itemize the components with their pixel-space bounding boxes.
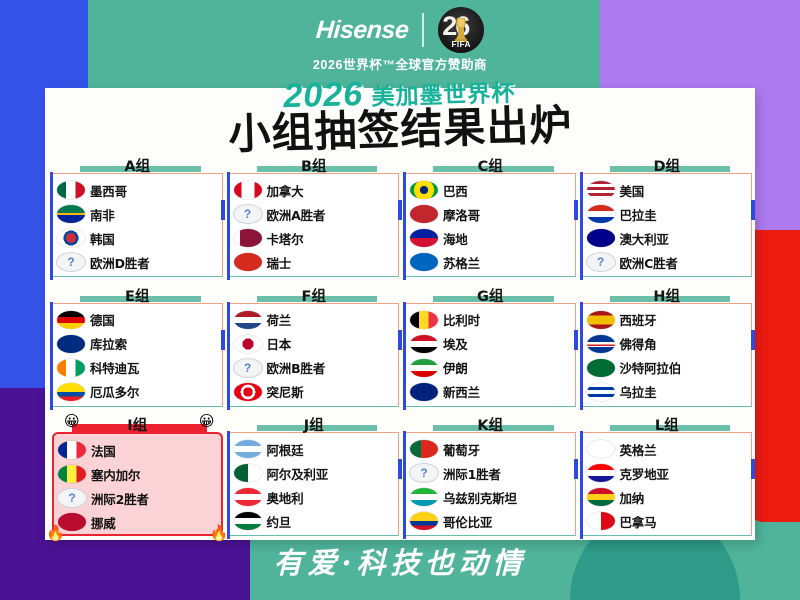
team-row: 苏格兰 [410, 250, 573, 274]
brazil-flag [410, 181, 438, 199]
group-label: J组 [304, 418, 324, 434]
team-name: 伊朗 [443, 358, 468, 377]
group-header: B组 [229, 155, 400, 173]
team-row: 巴西 [410, 178, 573, 202]
team-name: 阿根廷 [267, 440, 304, 459]
uruguay-flag [587, 383, 615, 401]
mexico-flag [57, 181, 85, 199]
team-name: 南非 [90, 205, 115, 224]
team-name: 哥伦比亚 [443, 512, 492, 531]
group-header: A组 [52, 155, 223, 173]
team-row: 乌兹别克斯坦 [410, 485, 573, 509]
group-card-G组: G组比利时埃及伊朗新西兰 [405, 285, 576, 411]
unknown-flag: ? [58, 489, 86, 507]
group-team-list: 法国塞内加尔?洲际2胜者挪威🔥🔥 [52, 432, 223, 536]
ivory-coast-flag [57, 359, 85, 377]
group-card-D组: D组美国巴拉圭澳大利亚?欧洲C胜者 [582, 155, 753, 281]
iran-flag [410, 359, 438, 377]
smiley-face-icon-left: 😀 [64, 412, 80, 430]
team-name: 西班牙 [620, 310, 657, 329]
unknown-flag: ? [410, 464, 438, 482]
team-name: 卡塔尔 [267, 229, 304, 248]
team-name: 科特迪瓦 [90, 358, 139, 377]
team-name: 日本 [267, 334, 292, 353]
senegal-flag [58, 465, 86, 483]
team-name: 苏格兰 [443, 253, 480, 272]
haiti-flag [410, 229, 438, 247]
team-name: 乌拉圭 [620, 382, 657, 401]
group-header: D组 [582, 155, 753, 173]
belgium-flag [410, 311, 438, 329]
brand-row: Hisense 26 FIFA [0, 10, 800, 50]
team-row: 荷兰 [234, 308, 397, 332]
team-row: 比利时 [410, 308, 573, 332]
team-row: 库拉索 [57, 332, 220, 356]
team-row: 英格兰 [587, 437, 750, 461]
group-header: I组😀😀 [52, 414, 223, 432]
group-team-list: 加拿大?欧洲A胜者卡塔尔瑞士 [229, 173, 400, 277]
team-row: 巴拉圭 [587, 202, 750, 226]
team-name: 韩国 [90, 229, 115, 248]
qatar-flag [234, 229, 262, 247]
team-row: 埃及 [410, 332, 573, 356]
team-name: 欧洲C胜者 [620, 253, 678, 272]
tunisia-flag [234, 383, 262, 401]
team-row: 乌拉圭 [587, 380, 750, 404]
group-card-L组: L组英格兰克罗地亚加纳巴拿马 [582, 414, 753, 540]
france-flag [58, 441, 86, 459]
team-name: 法国 [91, 441, 116, 460]
team-row: 瑞士 [234, 250, 397, 274]
team-row: 奥地利 [234, 485, 397, 509]
south-africa-flag [57, 205, 85, 223]
team-name: 欧洲D胜者 [90, 253, 149, 272]
group-team-list: 荷兰日本?欧洲B胜者突尼斯 [229, 303, 400, 407]
team-row: 巴拿马 [587, 509, 750, 533]
group-card-J组: J组阿根廷阿尔及利亚奥地利约旦 [229, 414, 400, 540]
paraguay-flag [587, 205, 615, 223]
group-label: A组 [124, 159, 150, 175]
group-card-K组: K组葡萄牙?洲际1胜者乌兹别克斯坦哥伦比亚 [405, 414, 576, 540]
group-card-F组: F组荷兰日本?欧洲B胜者突尼斯 [229, 285, 400, 411]
team-name: 乌兹别克斯坦 [443, 488, 517, 507]
group-label: F组 [302, 289, 326, 305]
spain-flag [587, 311, 615, 329]
group-card-I组: I组😀😀法国塞内加尔?洲际2胜者挪威🔥🔥 [52, 414, 223, 540]
group-label: I组 [127, 418, 147, 434]
team-name: 葡萄牙 [443, 440, 480, 459]
group-header: H组 [582, 285, 753, 303]
south-korea-flag [57, 229, 85, 247]
team-name: 比利时 [443, 310, 480, 329]
world-cup-trophy-icon: 26 FIFA [438, 7, 484, 53]
group-card-C组: C组巴西摩洛哥海地苏格兰 [405, 155, 576, 281]
group-label: H组 [653, 289, 680, 305]
japan-flag [234, 335, 262, 353]
team-row: 德国 [57, 308, 220, 332]
poster-header: Hisense 26 FIFA 2026世界杯™全球官方赞助商 [0, 10, 800, 73]
footer-slogan: 有爱·科技也动情 [0, 540, 800, 582]
logo-divider [422, 13, 424, 47]
team-name: 摩洛哥 [443, 205, 480, 224]
team-name: 荷兰 [267, 310, 292, 329]
group-header: G组 [405, 285, 576, 303]
team-name: 佛得角 [620, 334, 657, 353]
team-name: 德国 [90, 310, 115, 329]
team-name: 挪威 [91, 513, 116, 532]
ecuador-flag [57, 383, 85, 401]
team-row: 摩洛哥 [410, 202, 573, 226]
team-name: 瑞士 [267, 253, 292, 272]
group-team-list: 美国巴拉圭澳大利亚?欧洲C胜者 [582, 173, 753, 277]
group-header: F组 [229, 285, 400, 303]
team-name: 巴拿马 [620, 512, 657, 531]
group-team-list: 墨西哥南非韩国?欧洲D胜者 [52, 173, 223, 277]
colombia-flag [410, 512, 438, 530]
argentina-flag [234, 440, 262, 458]
team-name: 美国 [620, 181, 645, 200]
group-team-list: 阿根廷阿尔及利亚奥地利约旦 [229, 432, 400, 536]
team-row: 约旦 [234, 509, 397, 533]
cape-verde-flag [587, 335, 615, 353]
team-row: ?洲际2胜者 [58, 486, 219, 510]
fifa-wordmark: FIFA [438, 40, 484, 49]
group-team-list: 英格兰克罗地亚加纳巴拿马 [582, 432, 753, 536]
portugal-flag [410, 440, 438, 458]
team-name: 巴拉圭 [620, 205, 657, 224]
team-name: 沙特阿拉伯 [620, 358, 682, 377]
group-header: K组 [405, 414, 576, 432]
team-name: 澳大利亚 [620, 229, 669, 248]
hisense-logo: Hisense [315, 16, 409, 45]
group-header: J组 [229, 414, 400, 432]
uzbekistan-flag [410, 488, 438, 506]
morocco-flag [410, 205, 438, 223]
team-name: 约旦 [267, 512, 292, 531]
group-card-B组: B组加拿大?欧洲A胜者卡塔尔瑞士 [229, 155, 400, 281]
curacao-flag [57, 335, 85, 353]
team-name: 埃及 [443, 334, 468, 353]
group-team-list: 巴西摩洛哥海地苏格兰 [405, 173, 576, 277]
team-name: 塞内加尔 [91, 465, 140, 484]
team-row: 加纳 [587, 485, 750, 509]
team-name: 欧洲B胜者 [267, 358, 326, 377]
scotland-flag [410, 253, 438, 271]
team-row: 突尼斯 [234, 380, 397, 404]
team-name: 库拉索 [90, 334, 127, 353]
group-label: L组 [655, 418, 679, 434]
saudi-arabia-flag [587, 359, 615, 377]
team-row: 塞内加尔 [58, 462, 219, 486]
group-label: D组 [653, 159, 680, 175]
team-row: ?欧洲B胜者 [234, 356, 397, 380]
new-zealand-flag [410, 383, 438, 401]
team-row: 挪威 [58, 510, 219, 534]
england-flag [587, 440, 615, 458]
team-name: 洲际1胜者 [443, 464, 501, 483]
team-row: 西班牙 [587, 308, 750, 332]
jordan-flag [234, 512, 262, 530]
team-name: 阿尔及利亚 [267, 464, 329, 483]
poster-canvas: Hisense 26 FIFA 2026世界杯™全球官方赞助商 2026 美加墨… [0, 0, 800, 600]
algeria-flag [234, 464, 262, 482]
germany-flag [57, 311, 85, 329]
group-card-H组: H组西班牙佛得角沙特阿拉伯乌拉圭 [582, 285, 753, 411]
team-row: 海地 [410, 226, 573, 250]
team-name: 英格兰 [620, 440, 657, 459]
team-row: 科特迪瓦 [57, 356, 220, 380]
team-row: 新西兰 [410, 380, 573, 404]
team-row: 葡萄牙 [410, 437, 573, 461]
unknown-flag: ? [234, 205, 262, 223]
canada-flag [234, 181, 262, 199]
group-card-A组: A组墨西哥南非韩国?欧洲D胜者 [52, 155, 223, 281]
croatia-flag [587, 464, 615, 482]
team-row: ?洲际1胜者 [410, 461, 573, 485]
group-header: E组 [52, 285, 223, 303]
team-row: 日本 [234, 332, 397, 356]
team-row: ?欧洲C胜者 [587, 250, 750, 274]
team-row: 南非 [57, 202, 220, 226]
team-name: 欧洲A胜者 [267, 205, 326, 224]
team-row: 加拿大 [234, 178, 397, 202]
team-name: 加纳 [620, 488, 645, 507]
usa-flag [587, 181, 615, 199]
group-team-list: 西班牙佛得角沙特阿拉伯乌拉圭 [582, 303, 753, 407]
egypt-flag [410, 335, 438, 353]
team-row: 伊朗 [410, 356, 573, 380]
team-name: 加拿大 [267, 181, 304, 200]
group-team-list: 比利时埃及伊朗新西兰 [405, 303, 576, 407]
unknown-flag: ? [587, 253, 615, 271]
unknown-flag: ? [57, 253, 85, 271]
team-row: ?欧洲A胜者 [234, 202, 397, 226]
group-header: L组 [582, 414, 753, 432]
team-name: 突尼斯 [267, 382, 304, 401]
unknown-flag: ? [234, 359, 262, 377]
panama-flag [587, 512, 615, 530]
team-name: 海地 [443, 229, 468, 248]
team-row: 墨西哥 [57, 178, 220, 202]
team-row: 法国 [58, 438, 219, 462]
team-name: 克罗地亚 [620, 464, 669, 483]
team-row: 卡塔尔 [234, 226, 397, 250]
group-team-list: 葡萄牙?洲际1胜者乌兹别克斯坦哥伦比亚 [405, 432, 576, 536]
group-label: G组 [477, 289, 503, 305]
team-row: 澳大利亚 [587, 226, 750, 250]
team-name: 奥地利 [267, 488, 304, 507]
group-label: K组 [477, 418, 503, 434]
team-row: 阿根廷 [234, 437, 397, 461]
switzerland-flag [234, 253, 262, 271]
group-label: B组 [301, 159, 327, 175]
smiley-face-icon-right: 😀 [199, 412, 215, 430]
team-name: 巴西 [443, 181, 468, 200]
groups-grid: A组墨西哥南非韩国?欧洲D胜者B组加拿大?欧洲A胜者卡塔尔瑞士C组巴西摩洛哥海地… [52, 155, 752, 540]
team-row: 克罗地亚 [587, 461, 750, 485]
team-row: 沙特阿拉伯 [587, 356, 750, 380]
team-row: 哥伦比亚 [410, 509, 573, 533]
team-name: 新西兰 [443, 382, 480, 401]
netherlands-flag [234, 311, 262, 329]
team-row: 厄瓜多尔 [57, 380, 220, 404]
team-row: 美国 [587, 178, 750, 202]
team-name: 墨西哥 [90, 181, 127, 200]
group-header: C组 [405, 155, 576, 173]
ghana-flag [587, 488, 615, 506]
australia-flag [587, 229, 615, 247]
group-label: C组 [478, 159, 503, 175]
group-team-list: 德国库拉索科特迪瓦厄瓜多尔 [52, 303, 223, 407]
team-name: 厄瓜多尔 [90, 382, 139, 401]
group-label: E组 [125, 289, 149, 305]
team-name: 洲际2胜者 [91, 489, 149, 508]
team-row: 韩国 [57, 226, 220, 250]
team-row: ?欧洲D胜者 [57, 250, 220, 274]
team-row: 阿尔及利亚 [234, 461, 397, 485]
group-card-E组: E组德国库拉索科特迪瓦厄瓜多尔 [52, 285, 223, 411]
team-row: 佛得角 [587, 332, 750, 356]
austria-flag [234, 488, 262, 506]
